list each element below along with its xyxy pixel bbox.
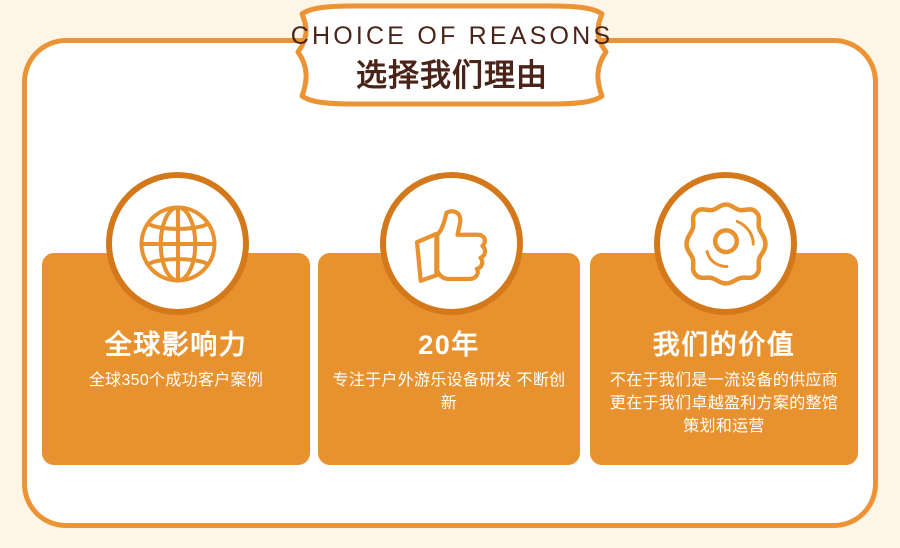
feature-icon-badge-value (654, 172, 797, 315)
feature-icon-badge-global (106, 172, 249, 315)
card-description: 不在于我们是一流设备的供应商 更在于我们卓越盈利方案的整馆策划和运营 (604, 370, 844, 438)
card-title: 我们的价值 (604, 331, 844, 359)
card-text-block: 我们的价值 不在于我们是一流设备的供应商 更在于我们卓越盈利方案的整馆策划和运营 (590, 331, 858, 439)
promo-banner-page: CHOICE OF REASONS 选择我们理由 全球影响力 全球350个成功客… (0, 0, 900, 548)
card-title: 全球影响力 (56, 331, 296, 359)
gear-icon (679, 197, 773, 291)
feature-icon-badge-quality (380, 172, 523, 315)
card-description: 全球350个成功客户案例 (56, 370, 296, 393)
card-text-block: 20年 专注于户外游乐设备研发 不断创新 (318, 331, 580, 416)
card-title: 20年 (332, 331, 566, 359)
card-text-block: 全球影响力 全球350个成功客户案例 (42, 331, 310, 393)
thumbs-up-icon (406, 198, 498, 290)
feature-card-list: 全球影响力 全球350个成功客户案例 20年 专注于户外游乐设备研发 不断创新 … (0, 0, 900, 548)
card-description: 专注于户外游乐设备研发 不断创新 (332, 370, 566, 415)
globe-icon (130, 196, 226, 292)
